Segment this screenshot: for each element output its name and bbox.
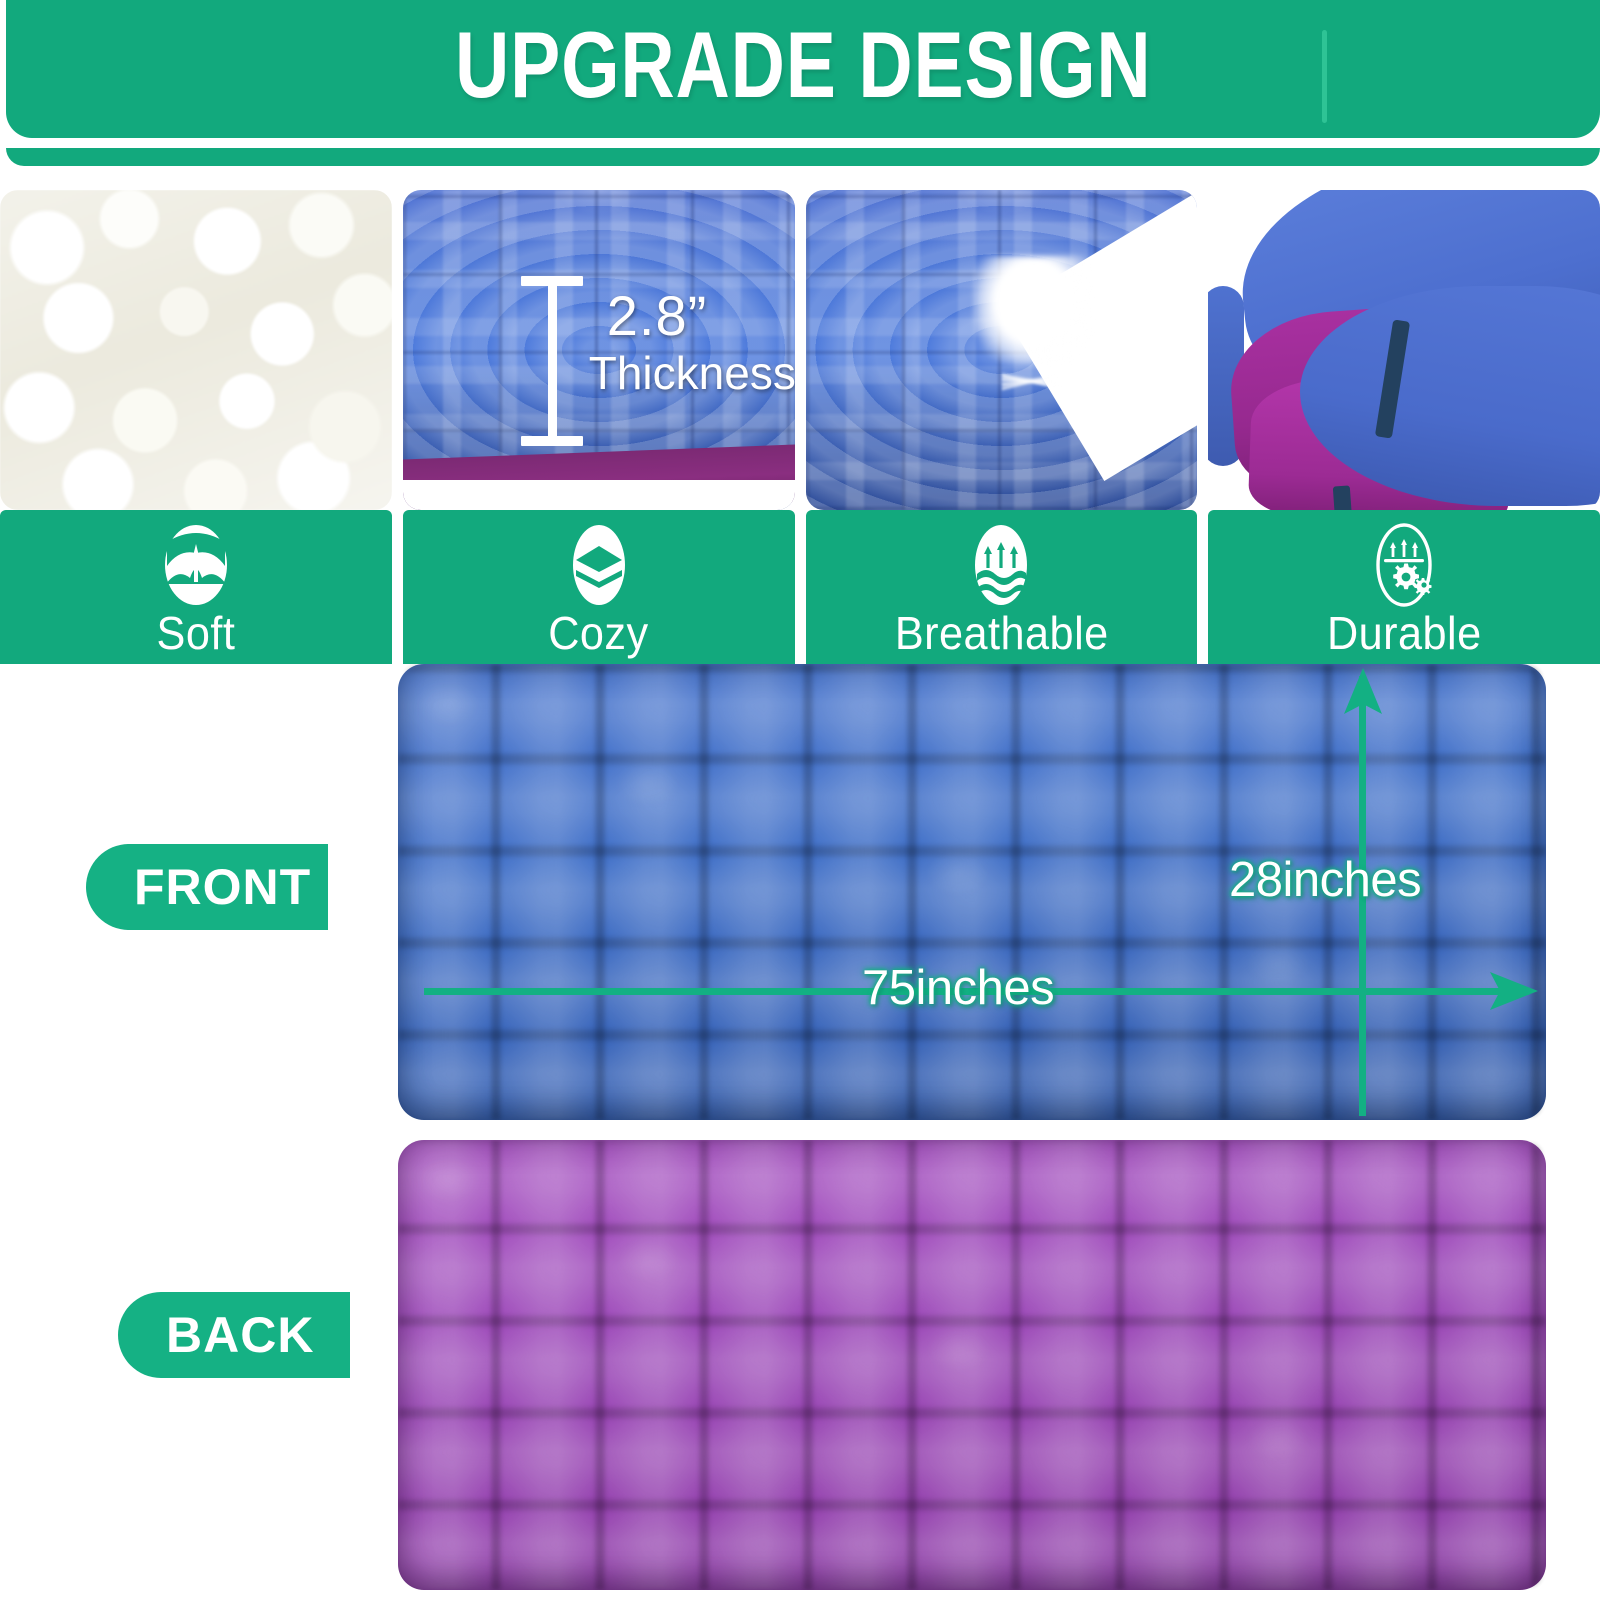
feature-label-cozy: Cozy [403,510,795,664]
stacked-layers-icon [562,522,636,608]
feature-label-durable: Durable [1208,510,1600,664]
rolled-cushion [1208,190,1600,510]
front-badge-label: FRONT [134,862,311,912]
back-cushion-image [398,1140,1546,1590]
back-badge[interactable]: BACK [118,1292,350,1378]
feature-name-durable: Durable [1327,610,1482,656]
soft-photo [0,190,392,510]
i-beam-measure-icon [521,276,583,446]
page-title: UPGRADE DESIGN [455,18,1151,120]
thickness-annotation: 2.8” Thickness [589,288,795,396]
feather-streaks [1002,338,1060,422]
header-banner: UPGRADE DESIGN [0,0,1600,175]
breathable-photo [806,190,1198,510]
arrow-up-icon [1341,668,1385,714]
feature-label-breathable: Breathable [806,510,1198,664]
gears-arrows-icon [1367,522,1441,608]
header-accent-stripe [6,148,1600,166]
fiberfill-texture [0,190,392,510]
infographic-page: UPGRADE DESIGN Soft [0,0,1600,1600]
durable-photo [1208,190,1600,510]
feature-name-soft: Soft [156,610,235,656]
feature-card-breathable: Breathable [806,190,1198,664]
feature-label-soft: Soft [0,510,392,664]
width-dimension-label: 75inches [862,964,1054,1013]
header-divider [1322,30,1327,123]
airflow-arrows-waves-icon [964,522,1038,608]
cloud-feather-icon [159,522,233,608]
feature-row: Soft 2.8” Thickness [0,190,1600,664]
front-badge[interactable]: FRONT [86,844,328,930]
header-bar: UPGRADE DESIGN [6,0,1600,138]
thickness-caption: Thickness [589,350,795,396]
back-badge-label: BACK [166,1310,314,1360]
height-dimension-label: 28inches [1229,856,1421,905]
feature-name-breathable: Breathable [894,610,1108,656]
feature-card-soft: Soft [0,190,392,664]
arrow-right-icon [1490,968,1538,1014]
thickness-value: 2.8” [607,288,795,344]
feature-name-cozy: Cozy [548,610,648,656]
strap-lower [1333,485,1352,510]
photo-white-base [403,480,795,510]
feature-card-durable: Durable [1208,190,1600,664]
feature-card-cozy: 2.8” Thickness Cozy [403,190,795,664]
back-cushion-highlights [398,1140,1546,1590]
cozy-photo: 2.8” Thickness [403,190,795,510]
